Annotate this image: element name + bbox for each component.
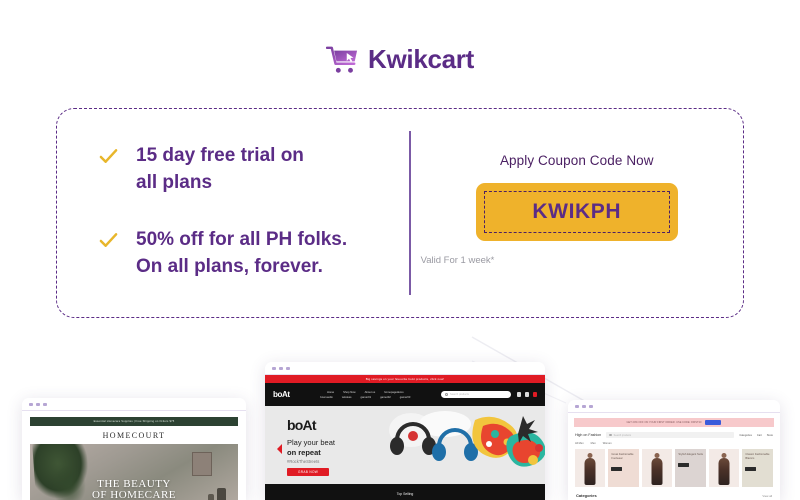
nav-item[interactable]: gamer03 — [400, 396, 411, 399]
window-dot-icon — [575, 405, 579, 408]
carousel-prev-icon[interactable] — [277, 444, 282, 454]
nav-actions: Categories Cart Store — [739, 434, 773, 437]
window-dot-icon — [279, 367, 283, 370]
user-icon[interactable] — [517, 392, 521, 397]
window-decoration — [192, 452, 212, 476]
benefit-item: 15 day free trial on all plans — [99, 143, 409, 197]
apply-coupon-label: Apply Coupon Code Now — [500, 153, 654, 168]
window-dot-icon — [43, 403, 47, 406]
site-navbar: boAt Home Shop Now About us homepagedemo… — [265, 383, 545, 406]
check-icon — [99, 147, 118, 166]
categories-section-header: Categories View all — [568, 487, 780, 498]
coupon-panel: Apply Coupon Code Now KWIKPH Valid For 1… — [411, 109, 743, 317]
window-dot-icon — [29, 403, 33, 406]
search-input[interactable]: Search products — [441, 391, 511, 398]
grab-now-button[interactable]: GRAB NOW — [287, 468, 329, 476]
browser-chrome-bar — [568, 400, 780, 413]
promo-banner: GET 20% OFF ON YOUR FIRST ORDER. USE COD… — [574, 418, 774, 427]
window-dot-icon — [286, 367, 290, 370]
nav-row: boat audio wireless gamer01 gamer02 game… — [320, 396, 410, 399]
product-label: Great Fashionable Footwear — [611, 453, 636, 461]
shop-button[interactable] — [678, 463, 689, 467]
categories-title: Categories — [576, 493, 597, 498]
store-logo[interactable]: boAt — [273, 390, 290, 399]
announcement-text: Essential Homecare Supplies | Free Shipp… — [94, 420, 175, 423]
hero-heading: Play your beat on repeat — [287, 438, 335, 458]
coupon-code-frame: KWIKPH — [484, 191, 670, 233]
subnav-item[interactable]: Men — [591, 442, 596, 445]
model-figure — [585, 458, 596, 485]
mockup-page-body: Essential Homecare Supplies | Free Shipp… — [22, 417, 246, 500]
product-grid: Great Fashionable Footwear Stylish Elega… — [568, 449, 780, 487]
nav-item[interactable]: About us — [365, 391, 376, 394]
shop-button[interactable] — [745, 467, 756, 471]
coupon-validity-note: Valid For 1 week* — [421, 255, 495, 266]
wishlist-icon[interactable] — [525, 392, 529, 397]
browser-chrome-bar — [22, 398, 246, 411]
product-photo[interactable] — [642, 449, 672, 487]
nav-item-categories[interactable]: Categories — [739, 434, 752, 437]
benefits-panel: 15 day free trial on all plans 50% off f… — [57, 109, 409, 317]
nav-item[interactable]: gamer01 — [361, 396, 372, 399]
product-tile[interactable]: Classic Fashionable Blazers — [742, 449, 773, 487]
check-icon — [99, 231, 118, 250]
browser-chrome-bar — [265, 362, 545, 375]
window-dot-icon — [272, 367, 276, 370]
announcement-bar: Essential Homecare Supplies | Free Shipp… — [30, 417, 238, 426]
model-figure — [719, 458, 730, 485]
footer-text: Top Selling — [397, 492, 414, 496]
shop-button[interactable] — [611, 467, 622, 471]
nav-item-cart[interactable]: Cart — [757, 434, 762, 437]
nav-links: Home Shop Now About us homepagedemo boat… — [296, 391, 435, 399]
view-all-link[interactable]: View all — [762, 494, 772, 498]
product-label: Stylish Elegant Suits — [678, 453, 703, 457]
hero-line-2: on repeat — [287, 448, 335, 458]
store-brand-name: HOMECOURT — [22, 426, 246, 444]
coupon-code-button[interactable]: KWIKPH — [476, 183, 678, 241]
nav-item[interactable]: homepagedemo — [384, 391, 403, 394]
hero-hashtag: #RockTheStreets — [287, 459, 319, 464]
hero-logo: boAt — [287, 417, 316, 433]
window-dot-icon — [36, 403, 40, 406]
benefit-item: 50% off for all PH folks. On all plans, … — [99, 227, 409, 281]
benefit-text: 15 day free trial on all plans — [136, 143, 304, 197]
product-photo[interactable] — [575, 449, 605, 487]
coupon-code-text: KWIKPH — [532, 200, 621, 224]
search-placeholder: Search products — [614, 434, 631, 437]
benefit-text: 50% off for all PH folks. On all plans, … — [136, 227, 347, 281]
window-dot-icon — [589, 405, 593, 408]
product-tile[interactable]: Stylish Elegant Suits — [675, 449, 706, 487]
mockup-homecourt[interactable]: Essential Homecare Supplies | Free Shipp… — [22, 398, 246, 500]
nav-row: Home Shop Now About us homepagedemo — [327, 391, 404, 394]
footer-section: Top Selling — [265, 484, 545, 500]
nav-item-store[interactable]: Store — [767, 434, 773, 437]
nav-item[interactable]: wireless — [342, 396, 352, 399]
site-navbar: High on Fashion Search products Categori… — [568, 427, 780, 442]
headphones-artwork — [383, 410, 545, 484]
search-icon — [445, 393, 448, 396]
hero-heading: THE BEAUTY OF HOMECARE — [30, 479, 238, 500]
mockup-boat[interactable]: Big savings on your favourite boAt produ… — [265, 362, 545, 500]
nav-item[interactable]: Shop Now — [343, 391, 355, 394]
search-input[interactable]: Search products — [606, 432, 734, 438]
grab-now-label: GRAB NOW — [298, 470, 318, 474]
brand-logo[interactable]: Kwikcart — [0, 44, 800, 75]
brand-name: Kwikcart — [368, 44, 474, 75]
mockup-page-body: GET 20% OFF ON YOUR FIRST ORDER. USE COD… — [568, 418, 780, 500]
mockup-fashion[interactable]: GET 20% OFF ON YOUR FIRST ORDER. USE COD… — [568, 400, 780, 500]
shopping-cart-cursor-icon — [326, 45, 360, 75]
product-tile[interactable]: Great Fashionable Footwear — [608, 449, 639, 487]
announcement-bar: Big savings on your favourite boAt produ… — [265, 375, 545, 383]
nav-item[interactable]: Home — [327, 391, 334, 394]
shop-now-button[interactable] — [705, 420, 721, 425]
sub-navigation: All Men Men Women — [568, 442, 780, 449]
nav-item[interactable]: gamer02 — [380, 396, 391, 399]
model-figure — [652, 458, 663, 485]
nav-item[interactable]: boat audio — [320, 396, 333, 399]
store-brand-name[interactable]: High on Fashion — [575, 433, 601, 437]
cart-icon[interactable] — [533, 392, 537, 397]
subnav-item[interactable]: Women — [603, 442, 612, 445]
product-label: Classic Fashionable Blazers — [745, 453, 770, 461]
announcement-text: Big savings on your favourite boAt produ… — [366, 377, 445, 381]
subnav-item[interactable]: All Men — [575, 442, 584, 445]
search-icon — [609, 434, 612, 437]
search-placeholder: Search products — [450, 393, 469, 396]
product-photo[interactable] — [709, 449, 739, 487]
hero-banner: boAt Play your beat on repeat #RockTheSt… — [265, 406, 545, 484]
hero-line-1: Play your beat — [287, 438, 335, 447]
coupon-card: 15 day free trial on all plans 50% off f… — [56, 108, 744, 318]
promo-banner-text: GET 20% OFF ON YOUR FIRST ORDER. USE COD… — [627, 421, 702, 424]
hero-image: THE BEAUTY OF HOMECARE — [30, 444, 238, 500]
mockup-page-body: Big savings on your favourite boAt produ… — [265, 375, 545, 500]
nav-icons — [517, 392, 537, 397]
window-dot-icon — [582, 405, 586, 408]
